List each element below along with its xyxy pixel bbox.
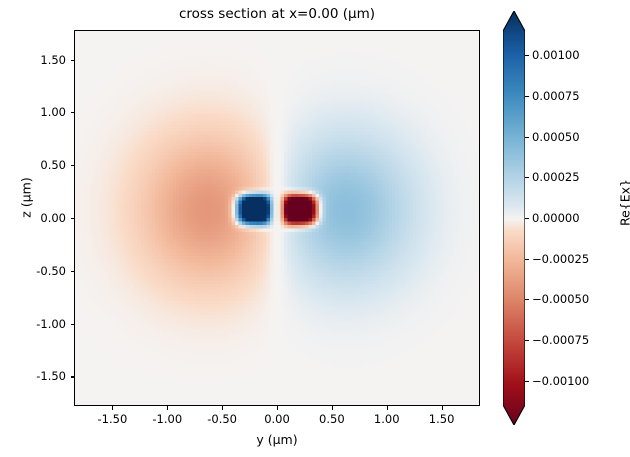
x-tick-mark — [112, 406, 113, 410]
y-tick-label: -0.50 — [14, 264, 66, 278]
y-tick-label: -1.00 — [14, 317, 66, 331]
colorbar-tick-mark — [525, 177, 529, 178]
colorbar-tick-label: 0.00100 — [532, 48, 580, 62]
colorbar-tick-mark — [525, 381, 529, 382]
x-tick-label: 0.00 — [264, 412, 290, 426]
colorbar-tick-label: 0.00075 — [532, 89, 580, 103]
x-tick-label: 1.50 — [429, 412, 455, 426]
colorbar-tick-mark — [525, 299, 529, 300]
field-image — [75, 31, 479, 405]
heatmap-plot-area — [74, 30, 480, 406]
x-tick-mark — [277, 406, 278, 410]
colorbar-tick-mark — [525, 55, 529, 56]
x-tick-label: 1.00 — [374, 412, 400, 426]
colorbar-tick-label: 0.00050 — [532, 130, 580, 144]
x-tick-mark — [387, 406, 388, 410]
colorbar-tick-mark — [525, 218, 529, 219]
y-tick-label: 1.00 — [14, 105, 66, 119]
y-tick-mark — [71, 60, 75, 61]
colorbar-tick-mark — [525, 137, 529, 138]
x-tick-label: -1.00 — [152, 412, 182, 426]
x-tick-label: -1.50 — [98, 412, 128, 426]
y-tick-mark — [71, 165, 75, 166]
colorbar-tick-label: 0.00000 — [532, 211, 580, 225]
colorbar-label: Re{Ex} — [618, 143, 630, 263]
colorbar-gradient — [503, 11, 525, 425]
y-tick-mark — [71, 376, 75, 377]
colorbar-tick-label: −0.00050 — [532, 292, 589, 306]
y-tick-mark — [71, 324, 75, 325]
colorbar — [503, 11, 525, 425]
matplotlib-figure: cross section at x=0.00 (µm) 1.501.000.5… — [0, 0, 630, 457]
y-tick-mark — [71, 218, 75, 219]
x-tick-mark — [167, 406, 168, 410]
y-axis-label: z (µm) — [19, 148, 34, 248]
page-title: cross section at x=0.00 (µm) — [74, 6, 480, 22]
x-tick-mark — [442, 406, 443, 410]
colorbar-tick-mark — [525, 259, 529, 260]
colorbar-tick-label: 0.00025 — [532, 170, 580, 184]
x-tick-mark — [222, 406, 223, 410]
colorbar-tick-label: −0.00025 — [532, 252, 589, 266]
y-tick-label: 1.50 — [14, 53, 66, 67]
y-tick-mark — [71, 271, 75, 272]
x-tick-mark — [332, 406, 333, 410]
y-tick-label: -1.50 — [14, 369, 66, 383]
y-tick-mark — [71, 112, 75, 113]
colorbar-tick-mark — [525, 96, 529, 97]
x-axis-label: y (µm) — [74, 432, 480, 447]
x-tick-label: -0.50 — [207, 412, 237, 426]
x-tick-label: 0.50 — [319, 412, 345, 426]
colorbar-tick-mark — [525, 340, 529, 341]
colorbar-tick-label: −0.00100 — [532, 374, 589, 388]
colorbar-tick-label: −0.00075 — [532, 333, 589, 347]
